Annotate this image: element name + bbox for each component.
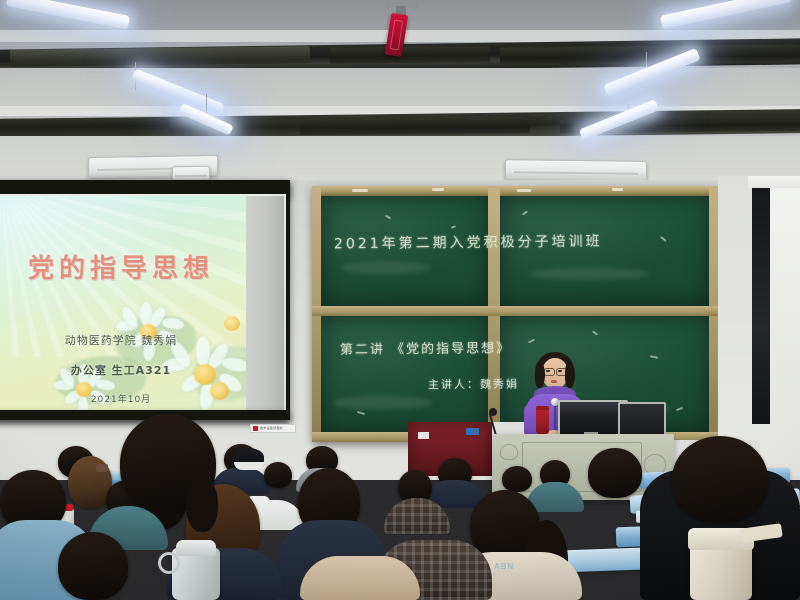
microphone-head-icon	[489, 408, 497, 416]
audience-cap-brim	[234, 462, 264, 470]
equipment-label-sign: 教学设备管理处	[250, 424, 296, 433]
chalk-stick-4[interactable]	[612, 188, 623, 191]
ceiling-duct-lower-left	[0, 117, 170, 134]
podium-laptop[interactable]	[618, 402, 666, 438]
audience-hair-clip	[96, 464, 108, 472]
shirt-print-text: ABN	[494, 562, 514, 571]
slide-presenter-line: 动物医药学院 魏秀娟	[0, 332, 246, 348]
blackboard-frame-middle	[312, 306, 718, 316]
blackboard-top-ledge	[312, 186, 718, 196]
blackboard-panel-bottom-left	[321, 316, 488, 432]
ceiling-duct-lower-mid	[300, 117, 530, 135]
audience-head-far-8	[502, 466, 532, 492]
audience-head-far-3	[264, 462, 292, 488]
right-panel-header	[748, 176, 800, 188]
chalk-stick-3[interactable]	[517, 189, 531, 192]
speaker-eye-left	[546, 370, 550, 372]
air-conditioner-right	[505, 159, 647, 182]
slide-date-line: 2021年10月	[0, 392, 246, 405]
red-thermos-cup[interactable]	[536, 406, 549, 434]
right-dark-panel	[752, 188, 770, 424]
ceiling-duct-upper-mid	[330, 46, 490, 64]
speaker-mouth	[551, 380, 557, 383]
slide-flower-center-extra	[224, 316, 240, 331]
slide-office-line: 办公室 生工A321	[0, 362, 246, 378]
audience-head-left-fg-2	[58, 532, 128, 600]
slide-title: 党的指导思想	[0, 248, 246, 285]
slide-content: 党的指导思想 动物医药学院 魏秀娟 办公室 生工A321 2021年10月	[0, 196, 246, 411]
speaker-hair-left	[535, 362, 545, 388]
blackboard-line-topic: 第二讲 《党的指导思想》	[340, 337, 511, 357]
blue-sticker	[466, 428, 479, 435]
speaker-hair-right	[565, 362, 575, 388]
cabinet-label	[418, 432, 429, 439]
blackboard-line-title: 2021年第二期入党积极分子培训班	[334, 231, 603, 254]
sign-text: 教学设备管理处	[260, 427, 283, 430]
classroom-photo: 党的指导思想 动物医药学院 魏秀娟 办公室 生工A321 2021年10月 教学…	[0, 0, 800, 600]
ceiling-duct-upper-right	[500, 44, 800, 65]
chalk-stick-2[interactable]	[432, 188, 444, 191]
grey-thermos-lid[interactable]	[176, 540, 216, 556]
chalk-stick-1[interactable]	[352, 189, 368, 192]
audience-head-right-3	[672, 436, 768, 522]
right-white-panel	[770, 188, 800, 424]
projection-screen-blank-edge	[246, 196, 284, 411]
audience-ponytail-center	[186, 476, 218, 532]
sign-logo-icon	[253, 426, 258, 431]
lectern-logo-left-icon	[500, 444, 518, 460]
audience-shoulder-right-5	[300, 556, 420, 600]
blackboard-line-speaker: 主讲人：魏秀娟	[428, 376, 519, 393]
audience-head-right-2	[588, 448, 642, 498]
grey-thermos-handle[interactable]	[158, 552, 180, 574]
speaker-eye-right	[558, 370, 562, 372]
